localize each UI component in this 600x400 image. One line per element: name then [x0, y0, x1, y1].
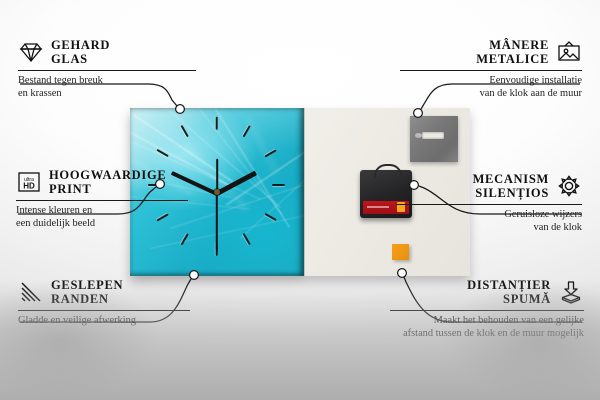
callout-title: MECANISM SILENȚIOS [473, 172, 549, 200]
divider [400, 70, 582, 71]
callout-body: Intense kleuren en een duidelijk beeld [16, 205, 188, 230]
clock-tick [180, 125, 189, 137]
divider [390, 310, 584, 311]
product-infographic: GEHARD GLAS Bestand tegen breuk en krass… [0, 0, 600, 400]
gear-icon [556, 174, 582, 198]
clock-tick [242, 125, 251, 137]
clock-hour-hand [216, 171, 257, 196]
divider [396, 204, 582, 205]
callout-title: HOOGWAARDIGE PRINT [49, 168, 166, 196]
metal-hanger [410, 116, 458, 162]
callout-body: Eenvoudige installatie van de klok aan d… [400, 75, 582, 100]
clock-tick [242, 233, 251, 245]
bevelled-edge-icon [18, 280, 44, 304]
callout-body: Gladde en veilige afwerking [18, 315, 190, 328]
hanger-slot [422, 132, 444, 139]
clock-tick [180, 233, 189, 245]
picture-hanger-icon [556, 40, 582, 64]
clock-tick [215, 117, 217, 130]
callout-manere-metalice: MÂNERE METALICE Eenvoudige installatie v… [400, 38, 582, 100]
clock-tick [215, 243, 217, 256]
clock-second-hand [216, 193, 218, 251]
clock-tick [264, 213, 276, 222]
foam-spacer [392, 244, 409, 260]
callout-body: Bestand tegen breuk en krassen [18, 75, 196, 100]
clock-tick [156, 149, 168, 158]
divider [18, 70, 196, 71]
callout-title: MÂNERE METALICE [476, 38, 549, 66]
diamond-icon [18, 40, 44, 64]
callout-gehard-glas: GEHARD GLAS Bestand tegen breuk en krass… [18, 38, 196, 100]
callout-title: GESLEPEN RANDEN [51, 278, 123, 306]
divider [16, 200, 188, 201]
callout-title: GEHARD GLAS [51, 38, 110, 66]
ultra-hd-icon: ultra HD [16, 170, 42, 194]
divider [18, 310, 190, 311]
callout-hoogwaardige-print: ultra HD HOOGWAARDIGE PRINT Intense kleu… [16, 168, 188, 230]
spacer-arrow-icon [558, 280, 584, 304]
clock-tick [264, 149, 276, 158]
svg-text:HD: HD [23, 182, 35, 191]
callout-title: DISTANȚIER SPUMĂ [467, 278, 551, 306]
callout-geslepen-randen: GESLEPEN RANDEN Gladde en veilige afwerk… [18, 278, 190, 328]
callout-distantier-spuma: DISTANȚIER SPUMĂ Maakt het behouden van … [390, 278, 584, 340]
clock-tick [272, 184, 285, 186]
callout-mecanism-silentios: MECANISM SILENȚIOS Geruisloze wijzers va… [396, 172, 582, 234]
callout-body: Geruisloze wijzers van de klok [396, 209, 582, 234]
callout-body: Maakt het behouden van een gelijke afsta… [390, 315, 584, 340]
clock-centre-hub [214, 189, 220, 195]
clock-second-hand-tail [216, 159, 218, 193]
